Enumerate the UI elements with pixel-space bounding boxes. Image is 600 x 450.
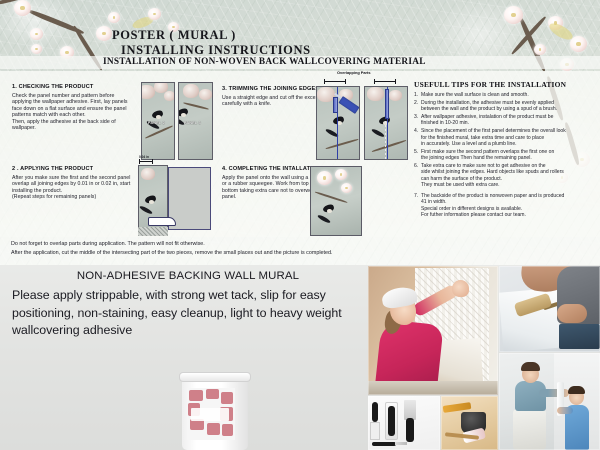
- promo-text-block: NON-ADHESIVE BACKING WALL MURAL Please a…: [12, 270, 364, 340]
- tip-line: They must be used with extra care.: [421, 182, 598, 189]
- page-subtitle: INSTALLATION OF NON-WOVEN BACK WALLCOVER…: [103, 57, 426, 67]
- blossom-decor: [389, 90, 402, 101]
- bird-illustration: [139, 192, 165, 216]
- step-1-body: Check the panel number and pattern befor…: [12, 93, 134, 133]
- blossom-decor: [148, 8, 161, 20]
- overlap-arrow: [324, 81, 346, 82]
- footnote-line: After the application, cut the middle of…: [11, 249, 333, 258]
- cut-dashed-line: [385, 117, 386, 160]
- promo-line-3: wallcovering adhesive: [12, 322, 364, 340]
- tip-item: 7. The backside of the product is nonwov…: [414, 193, 598, 219]
- overlap-panel-left: [316, 86, 360, 160]
- bucket-label-strip: [191, 408, 229, 421]
- tip-number: 1.: [414, 92, 418, 99]
- title-line-1: POSTER ( MURAL ): [112, 28, 311, 43]
- blossom-decor: [31, 44, 42, 54]
- blossom-decor: [335, 169, 347, 180]
- photo-border: [499, 353, 600, 450]
- photo-border: [499, 266, 600, 352]
- figure-panels-face-down: PANEL 2 PANEL 3: [141, 82, 213, 160]
- straight-edge-ruler: [385, 89, 389, 119]
- overlap-arrow: [374, 81, 396, 82]
- tip-number: 6.: [414, 163, 418, 170]
- tip-item: 6. Take extra care to make sure not to g…: [414, 163, 598, 189]
- straight-edge-ruler: [333, 97, 338, 113]
- photo-border: [368, 396, 440, 450]
- overlapping-parts-label: Overlapping Parts: [337, 70, 371, 75]
- measure-arrow-cap: [152, 159, 153, 164]
- overlap-arrow-cap: [374, 79, 375, 84]
- step-2-body: After you make sure the first and the se…: [12, 175, 134, 201]
- measure-arrow-cap: [139, 159, 140, 164]
- wallpaper-sheet-peeling: [148, 217, 176, 226]
- blossom-decor: [141, 85, 155, 99]
- tip-item: 5. First make sure the second pattern ov…: [414, 149, 598, 162]
- measure-label: 0.04 in: [139, 155, 149, 159]
- adhesive-bucket: [182, 372, 248, 450]
- blossom-decor: [317, 171, 332, 185]
- footnote-line: Do not forget to overlap parts during ap…: [11, 240, 333, 249]
- blossom-decor: [30, 28, 43, 40]
- step-1-heading: 1. CHECKING THE PRODUCT: [12, 84, 134, 90]
- tip-number: 5.: [414, 149, 418, 156]
- tip-line: finished in 10-20 min.: [421, 120, 598, 127]
- promo-body: Please apply strippable, with strong wet…: [12, 287, 364, 340]
- blossom-decor: [183, 84, 199, 98]
- tip-number: 4.: [414, 128, 418, 135]
- bucket-label: [187, 388, 235, 440]
- bird-illustration: [146, 107, 172, 131]
- bird-illustration: [317, 201, 343, 225]
- tip-item: 1. Make sure the wall surface is clean a…: [414, 92, 598, 99]
- promo-line-2: positioning, non-staining, easy cleanup,…: [12, 305, 364, 323]
- figure-completed-mural: [310, 166, 362, 236]
- tip-number: 2.: [414, 100, 418, 107]
- blossom-decor: [367, 87, 384, 101]
- tip-item: 2. During the installation, the adhesive…: [414, 100, 598, 113]
- overlap-arrow-cap: [345, 79, 346, 84]
- blossom-decor: [341, 183, 352, 193]
- step-2-heading: 2 . APPLYING THE PRODUCT: [12, 166, 134, 172]
- overlap-arrow-cap: [324, 79, 325, 84]
- tips-heading: USEFULL TIPS FOR THE INSTALLATION: [414, 80, 598, 89]
- photo-man-and-child: [499, 353, 600, 450]
- tip-line: the joining edges Then hand the remainin…: [421, 155, 598, 162]
- wallpaper-panel-3: PANEL 3: [178, 82, 213, 160]
- step-checking-the-product: 1. CHECKING THE PRODUCT Check the panel …: [12, 84, 134, 132]
- tip-number: 7.: [414, 193, 418, 200]
- photo-collage: [368, 266, 600, 450]
- panel-label: PANEL 2: [148, 121, 165, 125]
- tip-line: between the wall and the product by usin…: [421, 106, 598, 113]
- photo-border: [368, 266, 498, 395]
- bird-illustration: [325, 113, 355, 143]
- tip-number: 3.: [414, 114, 418, 121]
- overlap-arrow-cap: [395, 79, 396, 84]
- page-title: POSTER ( MURAL ) INSTALLING INSTRUCTIONS: [112, 28, 311, 58]
- blossom-decor: [96, 26, 112, 41]
- tip-line: in accurately. Use a level and a plumb l…: [421, 141, 598, 148]
- figure-applying-to-wall: 0.04 in: [138, 155, 214, 237]
- tip-line: Make sure the wall surface is clean and …: [421, 92, 598, 99]
- blossom-decor: [141, 168, 155, 180]
- photo-border: [441, 396, 498, 450]
- figure-overlapping-parts: Overlapping Parts: [312, 70, 410, 162]
- tip-item: 3. After wallpaper adhesive, instalation…: [414, 114, 598, 127]
- tip-item: 4. Since the placement of the first pane…: [414, 128, 598, 148]
- title-line-2: INSTALLING INSTRUCTIONS: [112, 43, 311, 58]
- measure-arrow: [139, 161, 153, 162]
- overlap-panel-right: [364, 86, 408, 160]
- photo-hands-with-roller: [499, 266, 600, 352]
- bucket-lid: [179, 372, 251, 382]
- promo-title: NON-ADHESIVE BACKING WALL MURAL: [12, 270, 364, 282]
- promo-line-1: Please apply strippable, with strong wet…: [12, 287, 364, 305]
- blossom-decor: [14, 0, 31, 16]
- blossom-decor: [199, 89, 212, 100]
- photo-woman-hanging-wallpaper: [368, 266, 498, 395]
- blossom-decor: [164, 91, 175, 101]
- blossom-decor: [108, 12, 120, 23]
- blossom-decor: [534, 44, 546, 55]
- panel-label: PANEL 3: [184, 121, 201, 125]
- tip-line: For futher information please contact ou…: [421, 212, 598, 219]
- photo-paste-and-brushes: [441, 396, 498, 450]
- footnotes: Do not forget to overlap parts during ap…: [11, 240, 333, 257]
- step-applying-the-product: 2 . APPLYING THE PRODUCT After you make …: [12, 166, 134, 201]
- blossom-decor: [504, 6, 523, 24]
- floor-hatch: [138, 227, 168, 236]
- wallpaper-panel-2: PANEL 2: [141, 82, 175, 160]
- photo-tools: [368, 396, 440, 450]
- tips-panel: USEFULL TIPS FOR THE INSTALLATION 1. Mak…: [414, 80, 598, 220]
- tips-list: 1. Make sure the wall surface is clean a…: [414, 92, 598, 219]
- blossom-decor: [570, 36, 587, 52]
